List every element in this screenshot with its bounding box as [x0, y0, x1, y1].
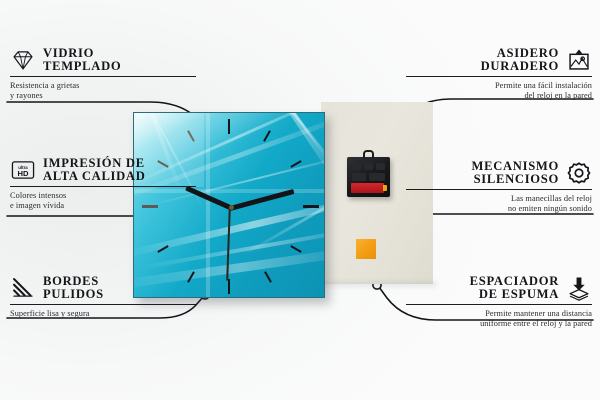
feature-description: Permite mantener una distancia uniforme … [406, 309, 592, 330]
feature-header: ESPACIADOR DE ESPUMA [406, 275, 592, 301]
clock-mechanism [347, 157, 390, 197]
foam-spacer [356, 239, 376, 259]
divider [10, 186, 196, 187]
divider [10, 76, 196, 77]
feature-bordes-pulidos: BORDES PULIDOS Superficie lisa y segura [10, 275, 196, 319]
feature-description: Superficie lisa y segura [10, 309, 196, 319]
battery [351, 183, 384, 193]
feature-header: MECANISMO SILENCIOSO [406, 160, 592, 186]
divider [406, 189, 592, 190]
feature-title: IMPRESIÓN DE ALTA CALIDAD [43, 157, 146, 183]
feature-mecanismo-silencioso: MECANISMO SILENCIOSO Las manecillas del … [406, 160, 592, 215]
polished-edges-icon [10, 275, 36, 301]
feature-title: ESPACIADOR DE ESPUMA [470, 275, 559, 301]
feature-title: MECANISMO SILENCIOSO [472, 160, 559, 186]
infographic-canvas: VIDRIO TEMPLADO Resistencia a grietas y … [0, 0, 600, 400]
foam-spacer-icon [566, 275, 592, 301]
hanging-frame-icon [566, 47, 592, 73]
diamond-icon [10, 47, 36, 73]
feature-description: Colores intensos e imagen vívida [10, 191, 196, 212]
feature-description: Resistencia a grietas y rayones [10, 81, 196, 102]
divider [406, 304, 592, 305]
gear-icon [566, 160, 592, 186]
feature-title: VIDRIO TEMPLADO [43, 47, 121, 73]
feature-description: Las manecillas del reloj no emiten ningú… [406, 194, 592, 215]
divider [10, 304, 196, 305]
feature-vidrio-templado: VIDRIO TEMPLADO Resistencia a grietas y … [10, 47, 196, 102]
mechanism-hanger [363, 150, 374, 158]
feature-espaciador-espuma: ESPACIADOR DE ESPUMA Permite mantener un… [406, 275, 592, 330]
feature-title: ASIDERO DURADERO [481, 47, 559, 73]
feature-impresion-alta-calidad: ultra HD IMPRESIÓN DE ALTA CALIDAD Color… [10, 157, 196, 212]
feature-header: VIDRIO TEMPLADO [10, 47, 196, 73]
feature-header: ultra HD IMPRESIÓN DE ALTA CALIDAD [10, 157, 196, 183]
feature-header: BORDES PULIDOS [10, 275, 196, 301]
ultra-hd-icon: ultra HD [10, 157, 36, 183]
feature-asidero-duradero: ASIDERO DURADERO Permite una fácil insta… [406, 47, 592, 102]
svg-text:HD: HD [17, 169, 29, 178]
feature-header: ASIDERO DURADERO [406, 47, 592, 73]
feature-description: Permite una fácil instalación del reloj … [406, 81, 592, 102]
feature-title: BORDES PULIDOS [43, 275, 104, 301]
clock-hub [229, 205, 234, 210]
divider [406, 76, 592, 77]
